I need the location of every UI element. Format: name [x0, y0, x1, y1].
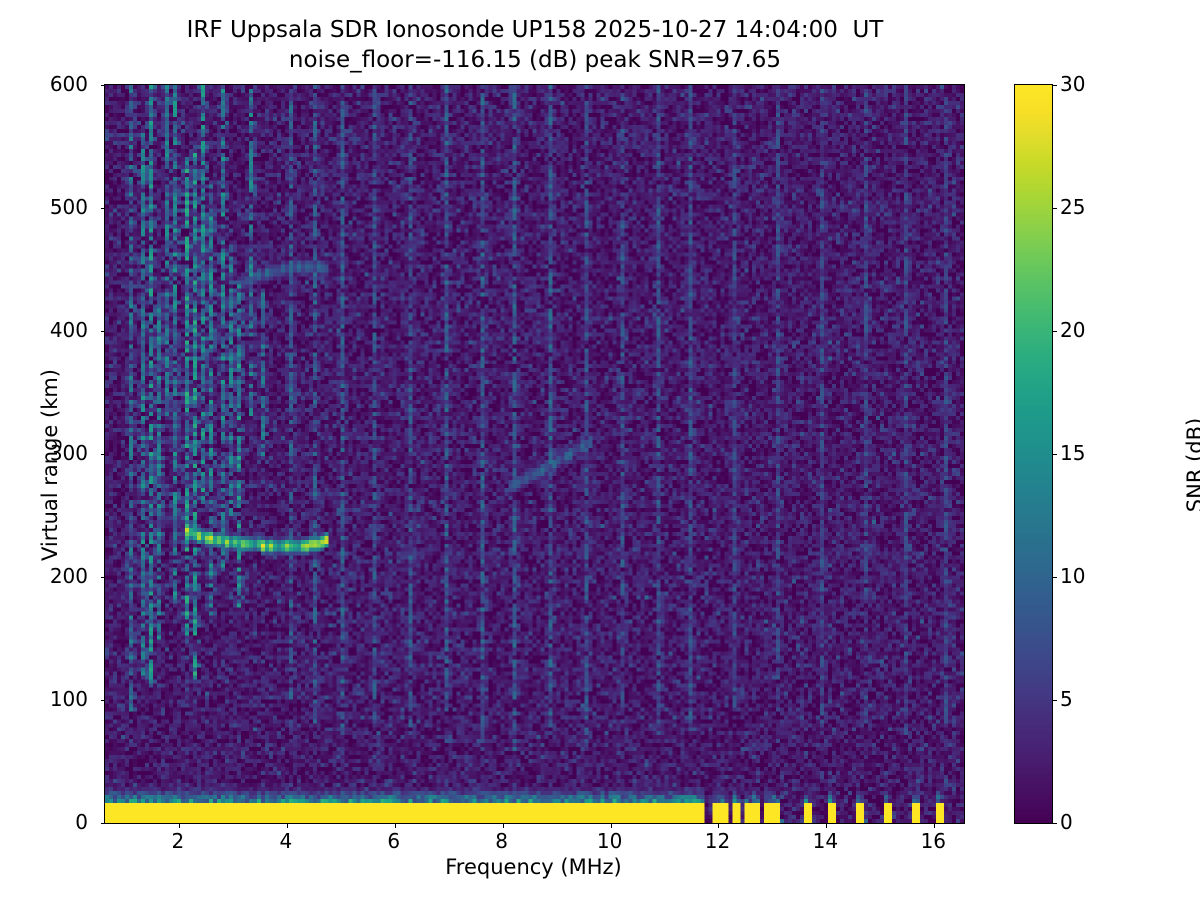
colorbar-tick-mark	[1053, 331, 1057, 332]
colorbar-tick-label: 0	[1060, 810, 1073, 834]
y-tick-mark	[101, 331, 105, 332]
x-tick-mark	[718, 824, 719, 828]
colorbar-gradient	[1015, 85, 1052, 823]
x-tick-label: 10	[597, 829, 622, 853]
colorbar-tick-label: 10	[1060, 564, 1085, 588]
x-tick-mark	[503, 824, 504, 828]
title-line-2: noise_floor=-116.15 (dB) peak SNR=97.65	[0, 46, 1070, 76]
colorbar-axis-label: SNR (dB)	[1183, 315, 1200, 615]
ionogram-axes	[104, 84, 965, 824]
y-tick-label: 600	[50, 72, 88, 96]
colorbar-tick-mark	[1053, 85, 1057, 86]
y-tick-mark	[101, 823, 105, 824]
colorbar	[1014, 84, 1053, 824]
x-tick-label: 4	[279, 829, 292, 853]
y-axis-label: Virtual range (km)	[38, 285, 62, 645]
y-tick-label: 0	[75, 810, 88, 834]
colorbar-tick-label: 30	[1060, 72, 1085, 96]
x-tick-mark	[934, 824, 935, 828]
x-tick-label: 2	[172, 829, 185, 853]
y-tick-mark	[101, 208, 105, 209]
y-tick-label: 500	[50, 195, 88, 219]
colorbar-tick-mark	[1053, 823, 1057, 824]
x-tick-label: 8	[495, 829, 508, 853]
colorbar-tick-label: 5	[1060, 687, 1073, 711]
figure-title: IRF Uppsala SDR Ionosonde UP158 2025-10-…	[0, 16, 1070, 76]
x-axis-label: Frequency (MHz)	[104, 855, 963, 879]
y-tick-mark	[101, 454, 105, 455]
y-tick-mark	[101, 85, 105, 86]
title-line-1: IRF Uppsala SDR Ionosonde UP158 2025-10-…	[0, 16, 1070, 46]
colorbar-tick-mark	[1053, 577, 1057, 578]
y-tick-mark	[101, 700, 105, 701]
colorbar-tick-mark	[1053, 208, 1057, 209]
y-tick-label: 100	[50, 687, 88, 711]
colorbar-tick-label: 20	[1060, 318, 1085, 342]
colorbar-tick-mark	[1053, 454, 1057, 455]
x-tick-label: 14	[813, 829, 838, 853]
x-tick-mark	[826, 824, 827, 828]
ionogram-heatmap	[105, 85, 964, 823]
x-tick-mark	[395, 824, 396, 828]
ionogram-figure: IRF Uppsala SDR Ionosonde UP158 2025-10-…	[0, 0, 1200, 900]
x-tick-label: 16	[921, 829, 946, 853]
x-tick-mark	[287, 824, 288, 828]
x-tick-label: 6	[387, 829, 400, 853]
x-tick-label: 12	[705, 829, 730, 853]
colorbar-tick-label: 25	[1060, 195, 1085, 219]
y-tick-mark	[101, 577, 105, 578]
x-tick-mark	[611, 824, 612, 828]
colorbar-tick-mark	[1053, 700, 1057, 701]
colorbar-tick-label: 15	[1060, 441, 1085, 465]
x-tick-mark	[179, 824, 180, 828]
